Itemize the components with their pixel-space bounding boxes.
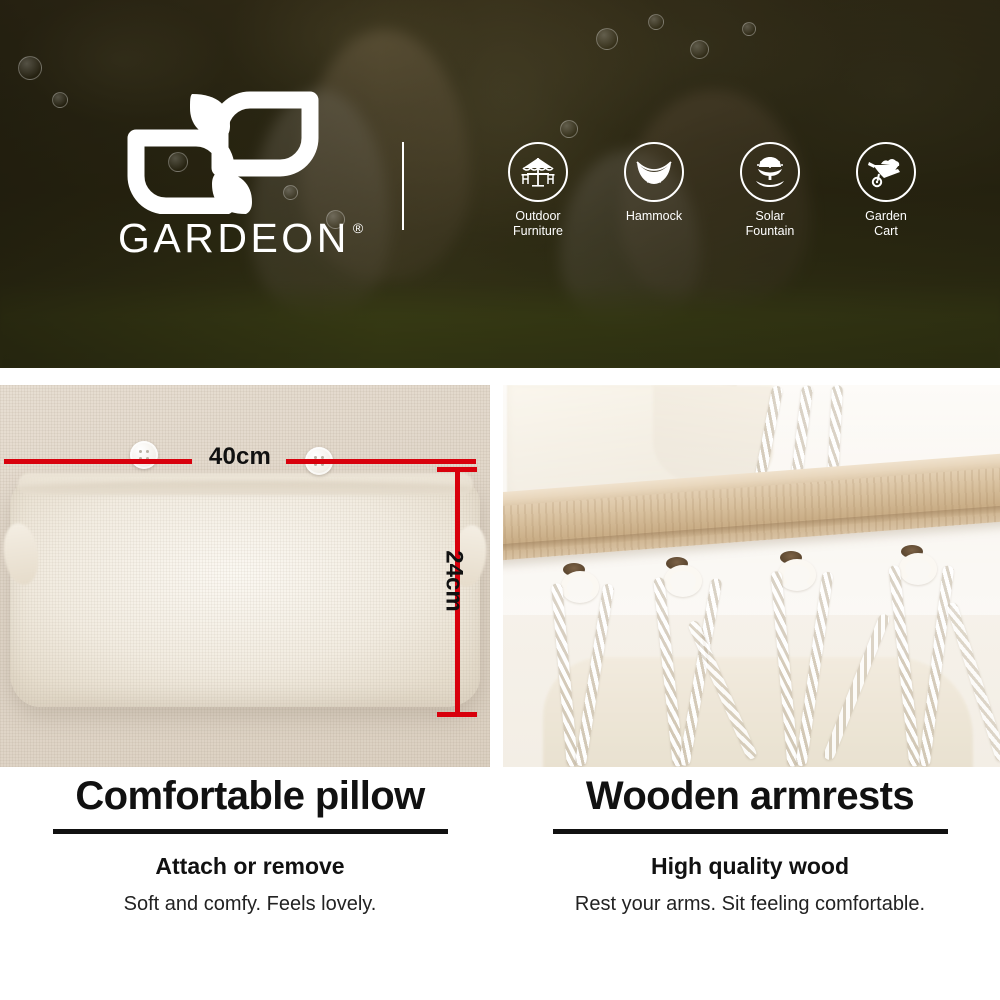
category-label: Solar Fountain: [746, 209, 795, 239]
category-label-line1: Outdoor: [515, 209, 560, 223]
caption-rule: [53, 829, 448, 834]
caption-subtitle: High quality wood: [530, 853, 970, 880]
garden-cart-icon: [856, 142, 916, 202]
rope-loop: [664, 565, 702, 597]
bubble-icon: [648, 14, 664, 30]
width-dimension-line-left: [4, 459, 192, 464]
bubble-icon: [560, 120, 578, 138]
category-solar-fountain: Solar Fountain: [724, 142, 816, 239]
rope-loop: [778, 559, 816, 591]
gardeon-leaf-logo-icon: [118, 86, 323, 214]
rope-loop: [899, 553, 937, 585]
pillow-product-image: 40cm 24cm: [0, 385, 490, 767]
category-label-line1: Hammock: [626, 209, 682, 223]
caption-title: Comfortable pillow: [30, 775, 470, 817]
brand-name: GARDEON: [118, 218, 350, 259]
trademark-symbol: ®: [353, 220, 363, 236]
width-dimension-label: 40cm: [196, 443, 284, 471]
hammock-icon: [624, 142, 684, 202]
pillow-button: [130, 441, 158, 469]
product-marketing-image: GARDEON ®: [0, 0, 1000, 1000]
rope-loop: [561, 571, 599, 603]
brand-banner: GARDEON ®: [0, 0, 1000, 368]
height-dimension-label: 24cm: [440, 550, 468, 611]
category-label-line2: Fountain: [746, 224, 795, 238]
armrest-product-image: [503, 385, 1000, 767]
banner-divider: [402, 142, 404, 230]
bubble-icon: [18, 56, 42, 80]
category-hammock: Hammock: [608, 142, 700, 239]
caption-title: Wooden armrests: [530, 775, 970, 817]
bubble-icon: [52, 92, 68, 108]
category-label-line1: Solar: [755, 209, 784, 223]
bubble-icon: [596, 28, 618, 50]
brand-wordmark: GARDEON ®: [118, 218, 378, 259]
caption-pillow: Comfortable pillow Attach or remove Soft…: [30, 775, 470, 916]
category-label-line2: Furniture: [513, 224, 563, 238]
category-label: Hammock: [626, 209, 682, 224]
bubble-icon: [742, 22, 756, 36]
category-icon-row: Outdoor Furniture Hammock: [492, 142, 932, 239]
product-image-row: 40cm 24cm: [0, 385, 1000, 767]
width-dimension-line-right: [286, 459, 476, 464]
category-label-line1: Garden: [865, 209, 907, 223]
caption-row: Comfortable pillow Attach or remove Soft…: [0, 775, 1000, 1000]
height-dimension-cap-bottom: [437, 712, 477, 717]
pillow-seam: [14, 481, 476, 497]
category-garden-cart: Garden Cart: [840, 142, 932, 239]
caption-subtitle: Attach or remove: [30, 853, 470, 880]
caption-description: Rest your arms. Sit feeling comfortable.: [530, 893, 970, 916]
caption-description: Soft and comfy. Feels lovely.: [30, 893, 470, 916]
bubble-icon: [690, 40, 709, 59]
caption-rule: [553, 829, 948, 834]
category-label: Outdoor Furniture: [513, 209, 563, 239]
category-label-line2: Cart: [874, 224, 898, 238]
category-label: Garden Cart: [865, 209, 907, 239]
pillow-body: [10, 477, 480, 707]
brand-lockup: GARDEON ®: [118, 86, 378, 259]
outdoor-furniture-icon: [508, 142, 568, 202]
solar-fountain-icon: [740, 142, 800, 202]
caption-armrests: Wooden armrests High quality wood Rest y…: [530, 775, 970, 916]
category-outdoor-furniture: Outdoor Furniture: [492, 142, 584, 239]
